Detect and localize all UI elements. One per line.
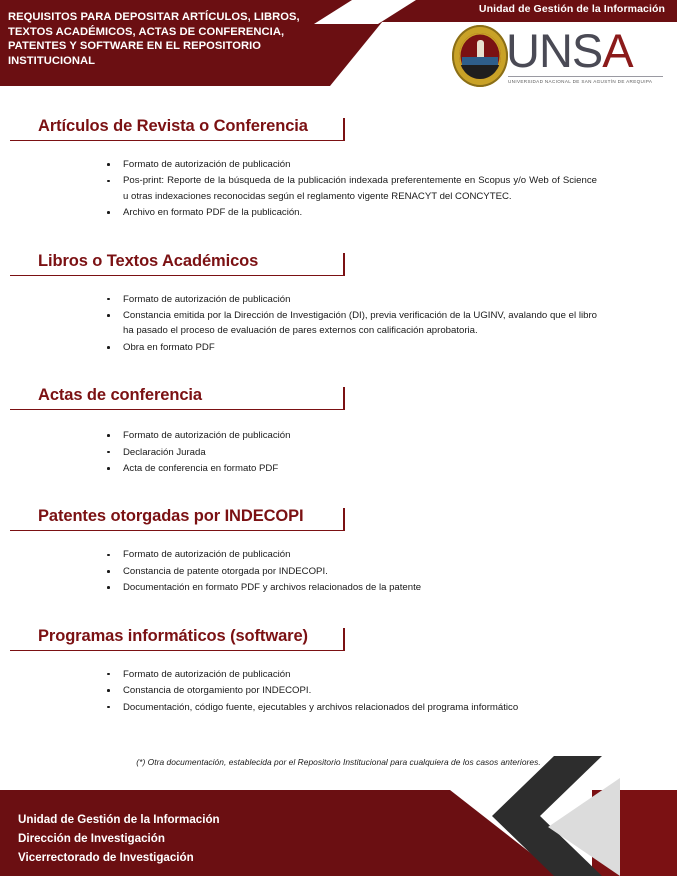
- section-title: Artículos de Revista o Conferencia: [38, 117, 308, 136]
- list-item: Formato de autorización de publicación: [105, 292, 597, 307]
- list-item: Formato de autorización de publicación: [105, 547, 597, 562]
- unsa-wordmark: UNSA: [506, 22, 633, 80]
- requirements-list: Formato de autorización de publicación C…: [0, 547, 677, 595]
- page-header: Unidad de Gestión de la Información REQU…: [0, 0, 677, 96]
- list-item: Formato de autorización de publicación: [105, 428, 597, 443]
- list-item: Archivo en formato PDF de la publicación…: [105, 205, 597, 220]
- section-heading: Programas informáticos (software): [10, 620, 345, 651]
- section-software: Programas informáticos (software) Format…: [0, 620, 677, 715]
- document-body: Artículos de Revista o Conferencia Forma…: [0, 96, 677, 716]
- unsa-logo: UNSA UNIVERSIDAD NACIONAL DE SAN AGUSTÍN…: [450, 24, 670, 88]
- list-item: Acta de conferencia en formato PDF: [105, 461, 597, 476]
- list-item: Documentación en formato PDF y archivos …: [105, 580, 597, 595]
- section-title: Patentes otorgadas por INDECOPI: [38, 507, 304, 526]
- list-item: Constancia emitida por la Dirección de I…: [105, 308, 597, 339]
- list-item: Formato de autorización de publicación: [105, 157, 597, 172]
- page-title: REQUISITOS PARA DEPOSITAR ARTÍCULOS, LIB…: [8, 10, 338, 68]
- footer-line-2: Dirección de Investigación: [18, 829, 220, 848]
- crest-inner: [459, 33, 501, 79]
- section-patentes: Patentes otorgadas por INDECOPI Formato …: [0, 500, 677, 595]
- requirements-list: Formato de autorización de publicación D…: [0, 428, 677, 476]
- section-heading: Patentes otorgadas por INDECOPI: [10, 500, 345, 531]
- section-heading: Actas de conferencia: [10, 379, 345, 410]
- list-item: Obra en formato PDF: [105, 340, 597, 355]
- requirements-list: Formato de autorización de publicación C…: [0, 292, 677, 356]
- requirements-list: Formato de autorización de publicación P…: [0, 157, 677, 221]
- crest-base: [461, 65, 499, 79]
- list-item: Pos-print: Reporte de la búsqueda de la …: [105, 173, 597, 204]
- unsa-wordmark-prefix: UNS: [506, 24, 602, 77]
- section-heading: Libros o Textos Académicos: [10, 245, 345, 276]
- unsa-crest-icon: [452, 25, 508, 87]
- section-actas: Actas de conferencia Formato de autoriza…: [0, 379, 677, 476]
- footer-line-3: Vicerrectorado de Investigación: [18, 848, 220, 867]
- unsa-logo-subtitle: UNIVERSIDAD NACIONAL DE SAN AGUSTÍN DE A…: [508, 76, 663, 84]
- footer-text: Unidad de Gestión de la Información Dire…: [18, 810, 220, 867]
- requirements-list: Formato de autorización de publicación C…: [0, 667, 677, 715]
- section-title: Programas informáticos (software): [38, 627, 308, 646]
- section-libros: Libros o Textos Académicos Formato de au…: [0, 245, 677, 356]
- list-item: Formato de autorización de publicación: [105, 667, 597, 682]
- list-item: Documentación, código fuente, ejecutable…: [105, 700, 597, 715]
- section-heading: Artículos de Revista o Conferencia: [10, 110, 345, 141]
- list-item: Declaración Jurada: [105, 445, 597, 460]
- unsa-wordmark-accent: A: [602, 24, 632, 77]
- header-unit-label: Unidad de Gestión de la Información: [479, 3, 665, 15]
- section-title: Libros o Textos Académicos: [38, 252, 258, 271]
- page-footer: Unidad de Gestión de la Información Dire…: [0, 790, 677, 876]
- footer-line-1: Unidad de Gestión de la Información: [18, 810, 220, 829]
- list-item: Constancia de otorgamiento por INDECOPI.: [105, 683, 597, 698]
- section-articulos: Artículos de Revista o Conferencia Forma…: [0, 110, 677, 221]
- list-item: Constancia de patente otorgada por INDEC…: [105, 564, 597, 579]
- section-title: Actas de conferencia: [38, 386, 202, 405]
